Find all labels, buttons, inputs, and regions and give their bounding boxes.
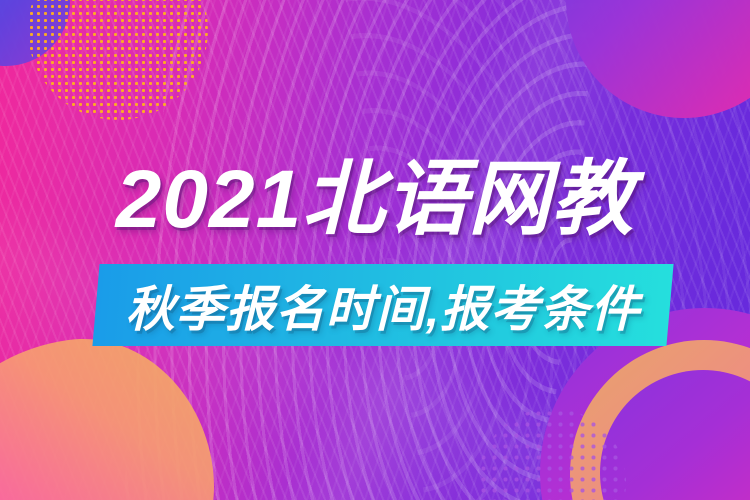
diagonal-stripes-pattern-secondary xyxy=(0,0,750,500)
halftone-orange-dots-decoration xyxy=(28,0,208,120)
curved-ribbon-lines-left xyxy=(112,0,607,500)
subtitle-text: 秋季报名时间,报考条件 xyxy=(96,264,670,346)
promo-poster: 2021北语网教 秋季报名时间,报考条件 xyxy=(0,0,750,500)
halftone-purple-dots-decoration xyxy=(478,408,626,500)
poster-content: 2021北语网教 秋季报名时间,报考条件 xyxy=(0,152,750,248)
subtitle-banner: 秋季报名时间,报考条件 xyxy=(92,264,673,346)
ring-mid-decoration xyxy=(570,340,750,500)
diagonal-stripes-pattern xyxy=(0,0,750,500)
blob-bottomleft-decoration xyxy=(0,323,233,500)
background-sheen xyxy=(0,0,750,500)
ring-inner-decoration xyxy=(600,370,750,500)
circle-topright-decoration xyxy=(566,0,750,118)
page-title: 2021北语网教 xyxy=(0,152,750,248)
circle-topleft-decoration xyxy=(0,0,70,66)
curved-ribbon-lines-right xyxy=(318,0,750,500)
